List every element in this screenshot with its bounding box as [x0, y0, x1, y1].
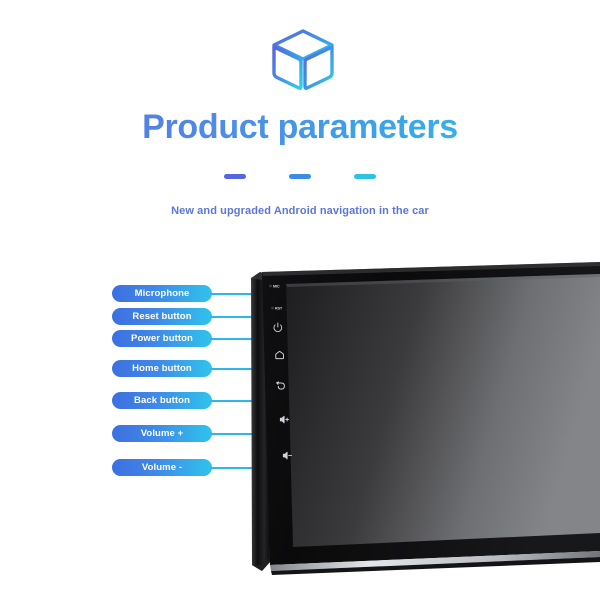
callout-label: Microphone	[135, 288, 190, 299]
callout-label: Power button	[131, 333, 193, 344]
callout-label: Reset button	[132, 311, 191, 322]
dash-3	[354, 174, 376, 179]
car-android-head-unit: MIC RST	[248, 262, 600, 592]
page-subtitle: New and upgraded Android navigation in t…	[0, 205, 600, 217]
label-pill-microphone[interactable]: Microphone	[112, 285, 212, 302]
callout-label: Volume +	[141, 428, 184, 439]
callout-label: Back button	[134, 395, 190, 406]
dash-1	[224, 174, 246, 179]
bezel-label-mic: MIC	[273, 284, 280, 288]
label-pill-volume-down[interactable]: Volume -	[112, 459, 212, 476]
label-pill-reset-button[interactable]: Reset button	[112, 308, 212, 325]
label-pill-power-button[interactable]: Power button	[112, 330, 212, 347]
decorative-dashes	[0, 174, 600, 179]
label-pill-volume-up[interactable]: Volume +	[112, 425, 212, 442]
bezel-label-rst: RST	[275, 306, 283, 310]
callout-label: Home button	[132, 363, 192, 374]
header-section: Product parameters New and upgraded Andr…	[0, 0, 600, 240]
cube-icon	[265, 24, 341, 96]
callout-label: Volume -	[142, 462, 182, 473]
label-pill-home-button[interactable]: Home button	[112, 360, 212, 377]
device-screen	[286, 274, 600, 547]
dash-2	[289, 174, 311, 179]
label-pill-back-button[interactable]: Back button	[112, 392, 212, 409]
page-title: Product parameters	[0, 108, 600, 147]
